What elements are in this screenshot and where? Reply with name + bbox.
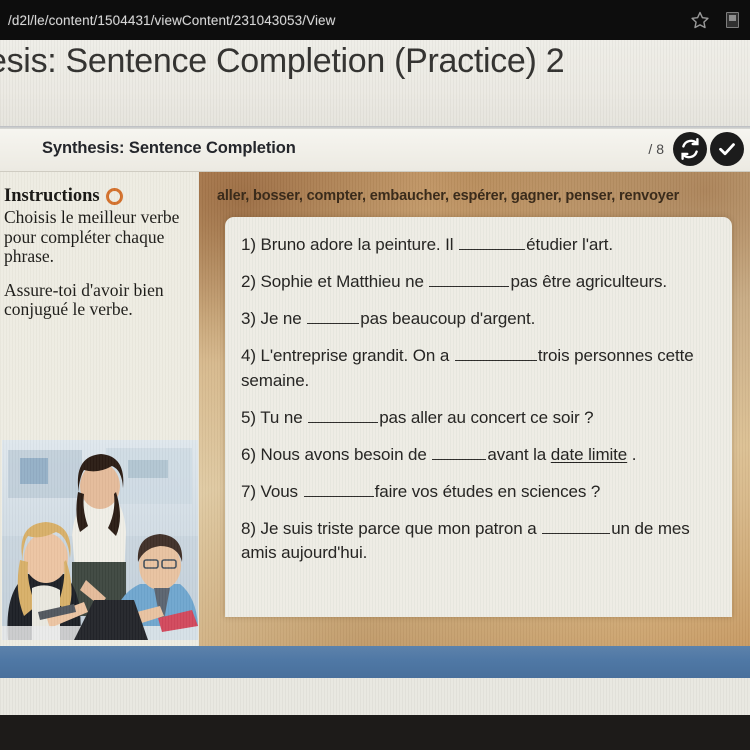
question-text: Bruno adore la peinture. Il bbox=[261, 235, 459, 254]
question-text: Je suis triste parce que mon patron a bbox=[261, 519, 542, 538]
question-item: 1) Bruno adore la peinture. Il étudier l… bbox=[241, 233, 716, 257]
content-panel: aller, bosser, compter, embaucher, espér… bbox=[199, 172, 750, 646]
question-item: 7) Vous faire vos études en sciences ? bbox=[241, 480, 716, 504]
screenshot-root: /d2l/le/content/1504431/viewContent/2310… bbox=[0, 0, 750, 750]
activity-body: Instructions Choisis le meilleur verbe p… bbox=[0, 172, 750, 646]
question-list: 1) Bruno adore la peinture. Il étudier l… bbox=[225, 217, 732, 617]
question-text: avant la bbox=[487, 445, 550, 464]
instructions-paragraph-1: Choisis le meilleur verbe pour compléter… bbox=[4, 208, 189, 267]
instructions-heading-row: Instructions bbox=[4, 186, 189, 207]
answer-blank[interactable] bbox=[429, 271, 509, 287]
question-number: 2) bbox=[241, 272, 261, 291]
question-item: 2) Sophie et Matthieu ne pas être agricu… bbox=[241, 270, 716, 294]
question-number: 6) bbox=[241, 445, 261, 464]
word-bank: aller, bosser, compter, embaucher, espér… bbox=[199, 172, 750, 217]
question-text: pas beaucoup d'argent. bbox=[360, 309, 535, 328]
answer-blank[interactable] bbox=[432, 444, 486, 460]
question-text: faire vos études en sciences ? bbox=[375, 482, 601, 501]
browser-bottom-chrome bbox=[0, 715, 750, 750]
question-text: Vous bbox=[261, 482, 303, 501]
browser-url-bar: /d2l/le/content/1504431/viewContent/2310… bbox=[0, 0, 750, 40]
question-number: 3) bbox=[241, 309, 261, 328]
answer-blank[interactable] bbox=[455, 345, 537, 361]
question-number: 5) bbox=[241, 408, 260, 427]
instructions-paragraph-2: Assure-toi d'avoir bien conjugué le verb… bbox=[4, 281, 189, 320]
question-text: Sophie et Matthieu ne bbox=[261, 272, 429, 291]
question-number: 4) bbox=[241, 346, 261, 365]
question-item: 4) L'entreprise grandit. On a trois pers… bbox=[241, 344, 716, 392]
question-text: Nous avons besoin de bbox=[261, 445, 432, 464]
activity-title: Synthesis: Sentence Completion bbox=[42, 139, 296, 158]
question-item: 3) Je ne pas beaucoup d'argent. bbox=[241, 307, 716, 331]
instructions-panel: Instructions Choisis le meilleur verbe p… bbox=[0, 172, 199, 646]
activity-header: Synthesis: Sentence Completion / 8 bbox=[0, 126, 750, 172]
question-text: L'entreprise grandit. On a bbox=[261, 346, 454, 365]
answer-blank[interactable] bbox=[308, 406, 378, 422]
question-number: 8) bbox=[241, 519, 261, 538]
footer-white-bar bbox=[0, 678, 750, 715]
speech-bubble-icon[interactable] bbox=[106, 188, 123, 205]
question-number: 1) bbox=[241, 235, 261, 254]
office-photo-illustration bbox=[2, 440, 198, 640]
question-text: Je ne bbox=[261, 309, 307, 328]
underlined-term: date limite bbox=[551, 445, 627, 464]
footer-blue-bar bbox=[0, 646, 750, 678]
star-icon[interactable] bbox=[690, 10, 710, 30]
question-text: étudier l'art. bbox=[526, 235, 613, 254]
page-title: esis: Sentence Completion (Practice) 2 bbox=[0, 42, 564, 81]
score-display: / 8 bbox=[648, 141, 664, 157]
answer-blank[interactable] bbox=[307, 308, 359, 324]
answer-blank[interactable] bbox=[459, 234, 525, 250]
answer-blank[interactable] bbox=[542, 518, 610, 534]
tab-icon[interactable] bbox=[726, 12, 739, 28]
question-text: pas être agriculteurs. bbox=[510, 272, 667, 291]
question-item: 5) Tu ne pas aller au concert ce soir ? bbox=[241, 406, 716, 430]
question-item: 8) Je suis triste parce que mon patron a… bbox=[241, 517, 716, 565]
question-item: 6) Nous avons besoin de avant la date li… bbox=[241, 443, 716, 467]
refresh-icon[interactable] bbox=[673, 132, 707, 166]
question-text: Tu ne bbox=[260, 408, 307, 427]
question-number: 7) bbox=[241, 482, 261, 501]
activity-frame: Synthesis: Sentence Completion / 8 bbox=[0, 126, 750, 646]
page-title-bar: esis: Sentence Completion (Practice) 2 bbox=[0, 40, 750, 126]
url-text[interactable]: /d2l/le/content/1504431/viewContent/2310… bbox=[8, 13, 336, 28]
check-circle-icon[interactable] bbox=[710, 132, 744, 166]
question-text: pas aller au concert ce soir ? bbox=[379, 408, 593, 427]
instructions-heading: Instructions bbox=[4, 186, 100, 207]
instructions-photo bbox=[2, 440, 198, 640]
question-text: . bbox=[627, 445, 636, 464]
answer-blank[interactable] bbox=[304, 481, 374, 497]
